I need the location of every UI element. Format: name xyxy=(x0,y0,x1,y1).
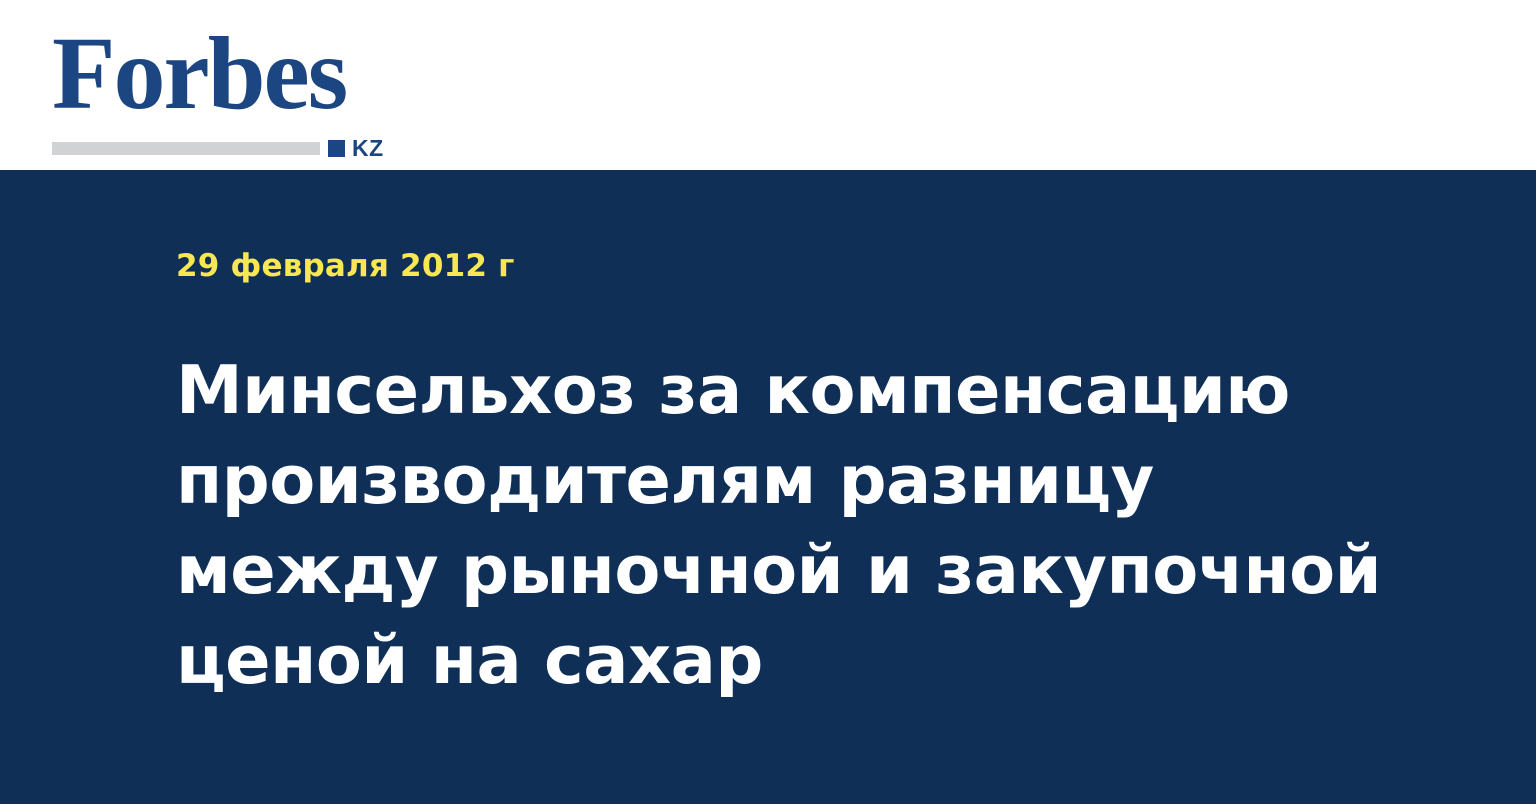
square-icon xyxy=(328,140,345,157)
logo-rule-divider xyxy=(52,142,320,155)
logo-kz-mark: kz xyxy=(328,140,384,157)
article-date: 29 февраля 2012 г xyxy=(176,248,515,284)
site-header: Forbes kz xyxy=(0,0,1536,170)
article-hero: 29 февраля 2012 г Минсельхоз за компенса… xyxy=(0,170,1536,804)
article-page: Forbes kz 29 февраля 2012 г Минсельхоз з… xyxy=(0,0,1536,804)
page-title: Минсельхоз за компенсацию производителям… xyxy=(176,345,1396,705)
forbes-kz-logo[interactable]: Forbes kz xyxy=(52,22,412,142)
forbes-wordmark: Forbes xyxy=(52,22,346,126)
logo-kz-label: kz xyxy=(352,140,384,157)
